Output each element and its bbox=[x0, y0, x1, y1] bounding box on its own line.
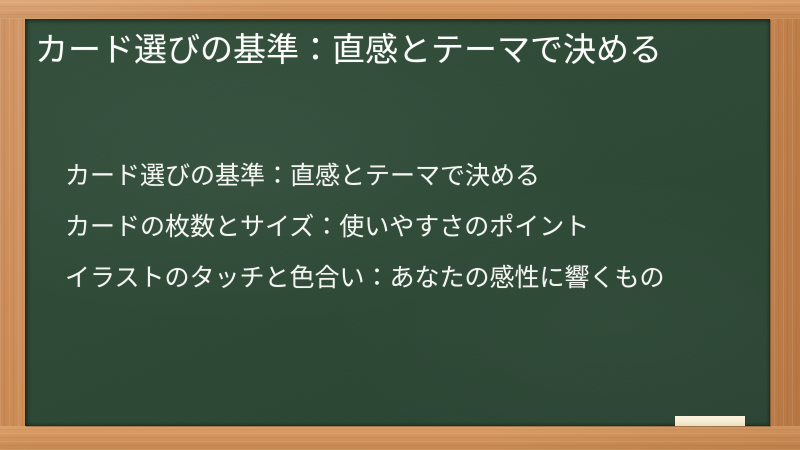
page-title: カード選びの基準：直感とテーマで決める bbox=[35, 26, 753, 74]
slide-content: カード選びの基準：直感とテーマで決める カード選びの基準：直感とテーマで決める … bbox=[25, 19, 770, 426]
chalk-eraser-icon bbox=[675, 416, 745, 426]
slide-canvas: カード選びの基準：直感とテーマで決める カード選びの基準：直感とテーマで決める … bbox=[0, 0, 800, 450]
list-item: カード選びの基準：直感とテーマで決める bbox=[65, 150, 755, 201]
frame-rail-top bbox=[0, 0, 800, 19]
chalkboard: カード選びの基準：直感とテーマで決める カード選びの基準：直感とテーマで決める … bbox=[25, 19, 770, 426]
frame-rail-bottom bbox=[0, 426, 800, 450]
bullet-list: カード選びの基準：直感とテーマで決める カードの枚数とサイズ：使いやすさのポイン… bbox=[65, 150, 755, 303]
list-item: イラストのタッチと色合い：あなたの感性に響くもの bbox=[65, 252, 755, 303]
list-item: カードの枚数とサイズ：使いやすさのポイント bbox=[65, 201, 755, 252]
